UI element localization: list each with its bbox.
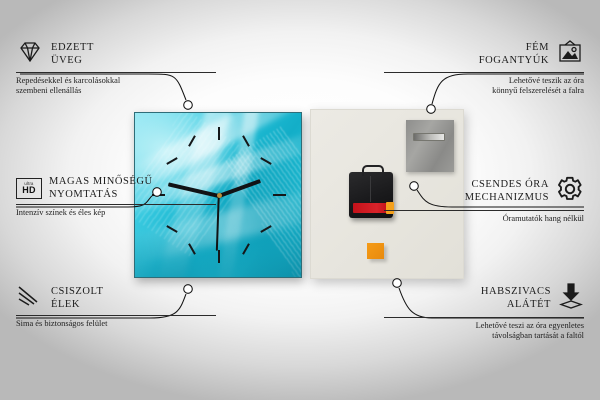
hanger-slot — [413, 133, 445, 141]
feature-subtitle: Lehetővé teszik az órakönnyű felszerelés… — [384, 76, 584, 96]
feature-silent-mechanism: CSENDES ÓRAMECHANIZMUS Óramutatók hang n… — [384, 176, 584, 224]
divider — [384, 210, 584, 211]
mechanism-seam — [370, 176, 371, 202]
feature-subtitle: Lehetővé teszi az óra egyenletestávolság… — [384, 321, 584, 341]
divider — [16, 204, 216, 205]
down-arrow-pad-icon — [558, 283, 584, 314]
connector-dot-tempered-glass — [184, 101, 193, 110]
feature-title: CSENDES ÓRAMECHANIZMUS — [465, 179, 549, 204]
feature-polished-edges: CSISZOLTÉLEK Sima és biztonságos felület — [16, 285, 216, 329]
feature-tempered-glass: EDZETTÜVEG Repedésekkel és karcolásokkal… — [16, 40, 216, 96]
picture-frame-hanger-icon — [556, 40, 584, 69]
foam-spacer-pad — [367, 243, 384, 259]
divider — [384, 317, 584, 318]
feature-foam-pad: HABSZIVACSALÁTÉT Lehetővé teszi az óra e… — [384, 283, 584, 341]
diamond-icon — [16, 40, 44, 69]
feature-subtitle: Óramutatók hang nélkül — [384, 214, 584, 224]
clock-tick — [273, 194, 286, 196]
clock-center-pin — [217, 193, 222, 198]
metal-hanger-plate — [406, 120, 454, 172]
infographic-canvas: EDZETTÜVEG Repedésekkel és karcolásokkal… — [0, 0, 600, 400]
feature-title: FÉMFOGANTYÚK — [479, 42, 549, 67]
divider — [16, 315, 216, 316]
feature-subtitle: Sima és biztonságos felület — [16, 319, 216, 329]
divider — [384, 72, 584, 73]
feature-title: MAGAS MINŐSÉGŰNYOMTATÁS — [49, 176, 153, 201]
feature-title: EDZETTÜVEG — [51, 42, 94, 67]
ultra-hd-icon-main-label: HD — [22, 186, 36, 195]
feature-title: HABSZIVACSALÁTÉT — [481, 286, 551, 311]
gear-icon — [556, 176, 584, 207]
clock-tick — [218, 250, 220, 263]
feature-subtitle: Repedésekkel és karcolásokkalszembeni el… — [16, 76, 216, 96]
ultra-hd-icon: ultra HD — [16, 178, 42, 199]
feature-metal-handles: FÉMFOGANTYÚK Lehetővé teszik az órakönny… — [384, 40, 584, 96]
feature-subtitle: Intenzív színek és éles kép — [16, 208, 216, 218]
divider — [16, 72, 216, 73]
feature-high-quality-print: ultra HD MAGAS MINŐSÉGŰNYOMTATÁS Intenzí… — [16, 176, 216, 218]
mechanism-hook — [362, 165, 384, 176]
feature-title: CSISZOLTÉLEK — [51, 286, 103, 311]
clock-tick — [218, 127, 220, 140]
diagonal-lines-icon — [16, 285, 44, 312]
battery-label — [353, 203, 387, 213]
